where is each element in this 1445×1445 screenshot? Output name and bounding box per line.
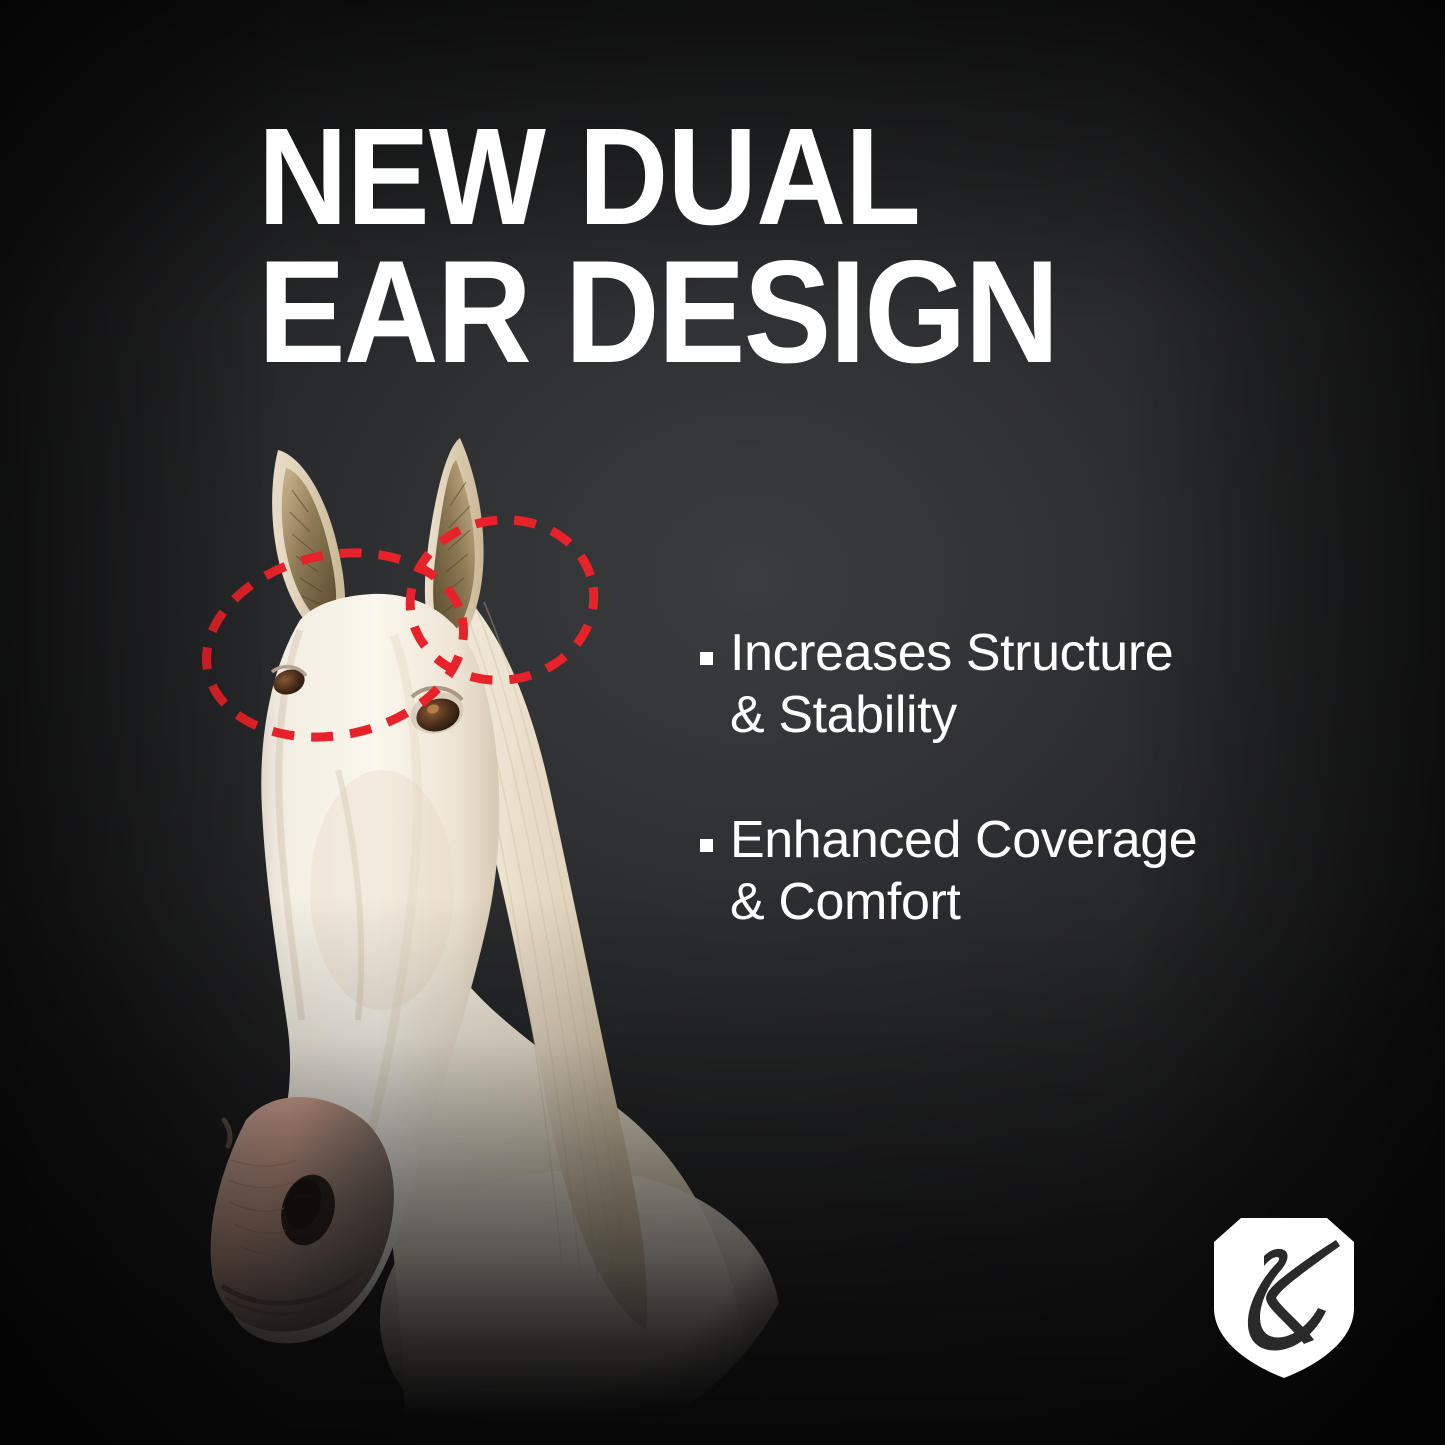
feature-text: Increases Structure & Stability [730,622,1173,747]
horse-illustration [150,420,790,1420]
brand-logo [1208,1212,1360,1384]
horse-photo [150,420,790,1420]
square-bullet-icon [700,839,713,852]
list-item: Enhanced Coverage & Comfort [700,809,1360,934]
page-title: NEW DUAL EAR DESIGN [258,112,1122,382]
list-item: Increases Structure & Stability [700,622,1360,747]
headline-line-2: EAR DESIGN [258,243,1122,382]
square-bullet-icon [700,652,713,665]
feature-text: Enhanced Coverage & Comfort [730,809,1197,934]
shield-k-logo [1208,1212,1360,1384]
promo-graphic: NEW DUAL EAR DESIGN Increases Structure … [0,0,1445,1445]
feature-list: Increases Structure & Stability Enhanced… [700,622,1360,934]
headline-line-1: NEW DUAL [258,112,1122,243]
